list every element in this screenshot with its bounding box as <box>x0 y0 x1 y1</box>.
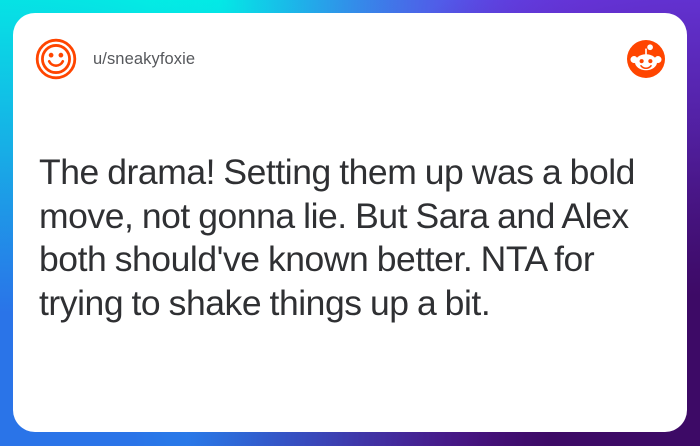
post-text: The drama! Setting them up was a bold mo… <box>39 151 661 325</box>
card-header: u/sneakyfoxie <box>13 13 687 105</box>
reddit-logo[interactable] <box>627 40 665 78</box>
reddit-post-card: u/sneakyfoxie The drama! Sett <box>13 13 687 432</box>
smiley-face-avatar-icon <box>35 38 77 80</box>
reddit-snoo-icon <box>627 40 665 78</box>
avatar[interactable] <box>35 38 77 80</box>
username-label: u/sneakyfoxie <box>93 50 195 69</box>
card-body: The drama! Setting them up was a bold mo… <box>39 151 661 325</box>
